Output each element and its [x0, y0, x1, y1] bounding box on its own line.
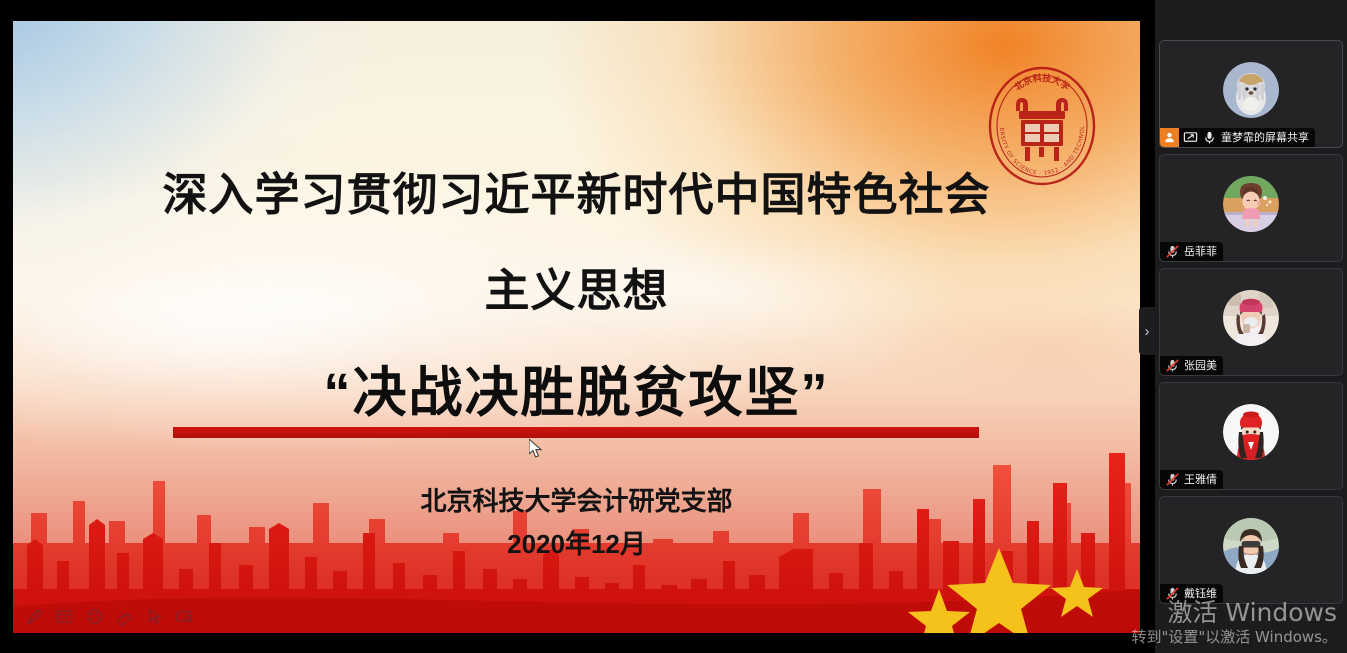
powerpoint-slide: 北京科技大学 UNIVERSITY OF SCIENCE · 1952 · AN…: [13, 21, 1140, 633]
participant-tile[interactable]: 戴钰维: [1159, 496, 1343, 604]
avatar: [1223, 518, 1279, 574]
participant-tile[interactable]: 王雅倩: [1159, 382, 1343, 490]
avatar: [1223, 62, 1279, 118]
slide-subtitle: “决战决胜脱贫攻坚”: [13, 348, 1140, 427]
avatar: [1223, 404, 1279, 460]
display-settings-icon[interactable]: [175, 607, 194, 626]
participant-namebar: 戴钰维: [1160, 584, 1223, 603]
pointer-icon[interactable]: [145, 607, 164, 626]
host-badge-icon: [1160, 128, 1179, 147]
microphone-muted-icon: [1165, 358, 1180, 373]
participant-name: 童梦霏的屏幕共享: [1221, 128, 1309, 147]
participant-namebar: 岳菲菲: [1160, 242, 1223, 261]
eraser-icon[interactable]: [115, 607, 134, 626]
participant-name: 王雅倩: [1184, 470, 1217, 489]
zoom-share-window: 北京科技大学 UNIVERSITY OF SCIENCE · 1952 · AN…: [0, 0, 1347, 653]
presenter-toolbar[interactable]: [19, 604, 200, 629]
microphone-muted-icon: [1165, 586, 1180, 601]
expand-panel-chevron-button[interactable]: ›: [1139, 307, 1155, 355]
avatar: [1223, 176, 1279, 232]
screen-share-icon: [1183, 130, 1198, 145]
participant-name: 张园美: [1184, 356, 1217, 375]
microphone-muted-icon: [1165, 472, 1180, 487]
title-underline-bar: [173, 427, 979, 438]
microphone-muted-icon: [1165, 244, 1180, 259]
participant-filmstrip: 童梦霏的屏幕共享: [1155, 0, 1347, 653]
participant-namebar: 张园美: [1160, 356, 1223, 375]
slide-date: 2020年12月: [13, 524, 1140, 561]
participant-tile[interactable]: 岳菲菲: [1159, 154, 1343, 262]
chevron-right-icon: ›: [1145, 324, 1150, 339]
participant-tile[interactable]: 童梦霏的屏幕共享: [1159, 40, 1343, 148]
avatar: [1223, 290, 1279, 346]
slides-icon[interactable]: [55, 607, 74, 626]
participant-name: 岳菲菲: [1184, 242, 1217, 261]
shared-screen-area: 北京科技大学 UNIVERSITY OF SCIENCE · 1952 · AN…: [0, 0, 1155, 653]
palette-icon[interactable]: [85, 607, 104, 626]
filmstrip-top-spacer: [1155, 0, 1347, 40]
slide-organization: 北京科技大学会计研党支部: [13, 481, 1140, 518]
microphone-icon: [1202, 130, 1217, 145]
participant-namebar: 王雅倩: [1160, 470, 1223, 489]
participant-tile[interactable]: 张园美: [1159, 268, 1343, 376]
participant-namebar: 童梦霏的屏幕共享: [1160, 128, 1315, 147]
pen-icon[interactable]: [25, 607, 44, 626]
participant-name: 戴钰维: [1184, 584, 1217, 603]
slide-title-line-1: 深入学习贯彻习近平新时代中国特色社会: [13, 158, 1140, 223]
slide-title-line-2: 主义思想: [13, 254, 1140, 319]
